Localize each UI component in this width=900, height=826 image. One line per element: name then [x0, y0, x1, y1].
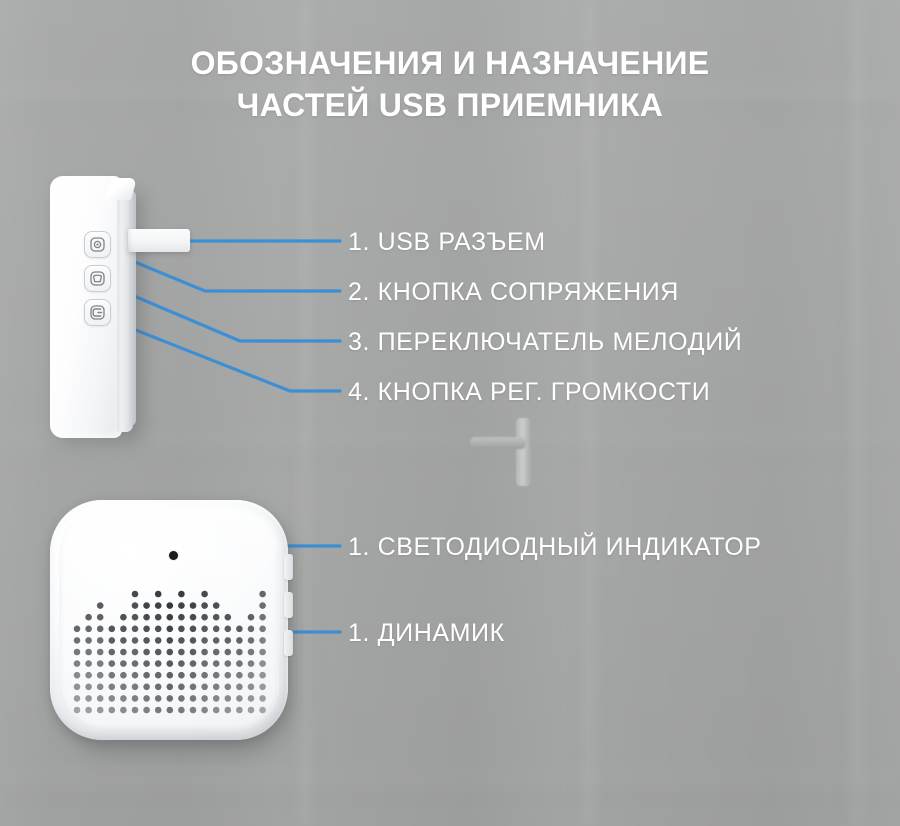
speaker-side-button-1[interactable] [284, 554, 293, 580]
door-handle-icon [470, 418, 550, 486]
volume-icon[interactable] [84, 299, 111, 326]
door-rail-bottom [0, 770, 900, 804]
label-pairing-button: 2. КНОПКА СОПРЯЖЕНИЯ [348, 278, 679, 307]
pairing-icon[interactable] [84, 231, 111, 258]
label-volume-button: 4. КНОПКА РЕГ. ГРОМКОСТИ [348, 378, 710, 407]
speaker-front-panel [59, 509, 279, 731]
door-handle-lever [470, 437, 526, 449]
speaker-unit [50, 500, 300, 755]
page-title: ОБОЗНАЧЕНИЯ И НАЗНАЧЕНИЕ ЧАСТЕЙ USB ПРИЕ… [0, 42, 900, 126]
melody-icon[interactable] [84, 265, 111, 292]
title-line-1: ОБОЗНАЧЕНИЯ И НАЗНАЧЕНИЕ [191, 45, 710, 81]
speaker-side-button-3[interactable] [284, 630, 293, 656]
usb-connector-tab [128, 229, 190, 252]
label-led-indicator: 1. СВЕТОДИОДНЫЙ ИНДИКАТОР [348, 533, 762, 562]
label-speaker-grille: 1. ДИНАМИК [348, 619, 505, 648]
title-line-2: ЧАСТЕЙ USB ПРИЕМНИКА [0, 84, 900, 126]
speaker-side-button-2[interactable] [284, 592, 293, 618]
speaker-shell [50, 500, 288, 740]
receiver-side-edge-dark [129, 190, 136, 426]
led-indicator-dot [169, 551, 178, 560]
label-melody-switch: 3. ПЕРЕКЛЮЧАТЕЛЬ МЕЛОДИЙ [348, 328, 742, 357]
label-usb-connector: 1. USB РАЗЪЕМ [348, 228, 546, 257]
door-handle-plate [516, 418, 531, 486]
infographic-canvas: ОБОЗНАЧЕНИЯ И НАЗНАЧЕНИЕ ЧАСТЕЙ USB ПРИЕ… [0, 0, 900, 826]
speaker-grille [73, 589, 269, 717]
